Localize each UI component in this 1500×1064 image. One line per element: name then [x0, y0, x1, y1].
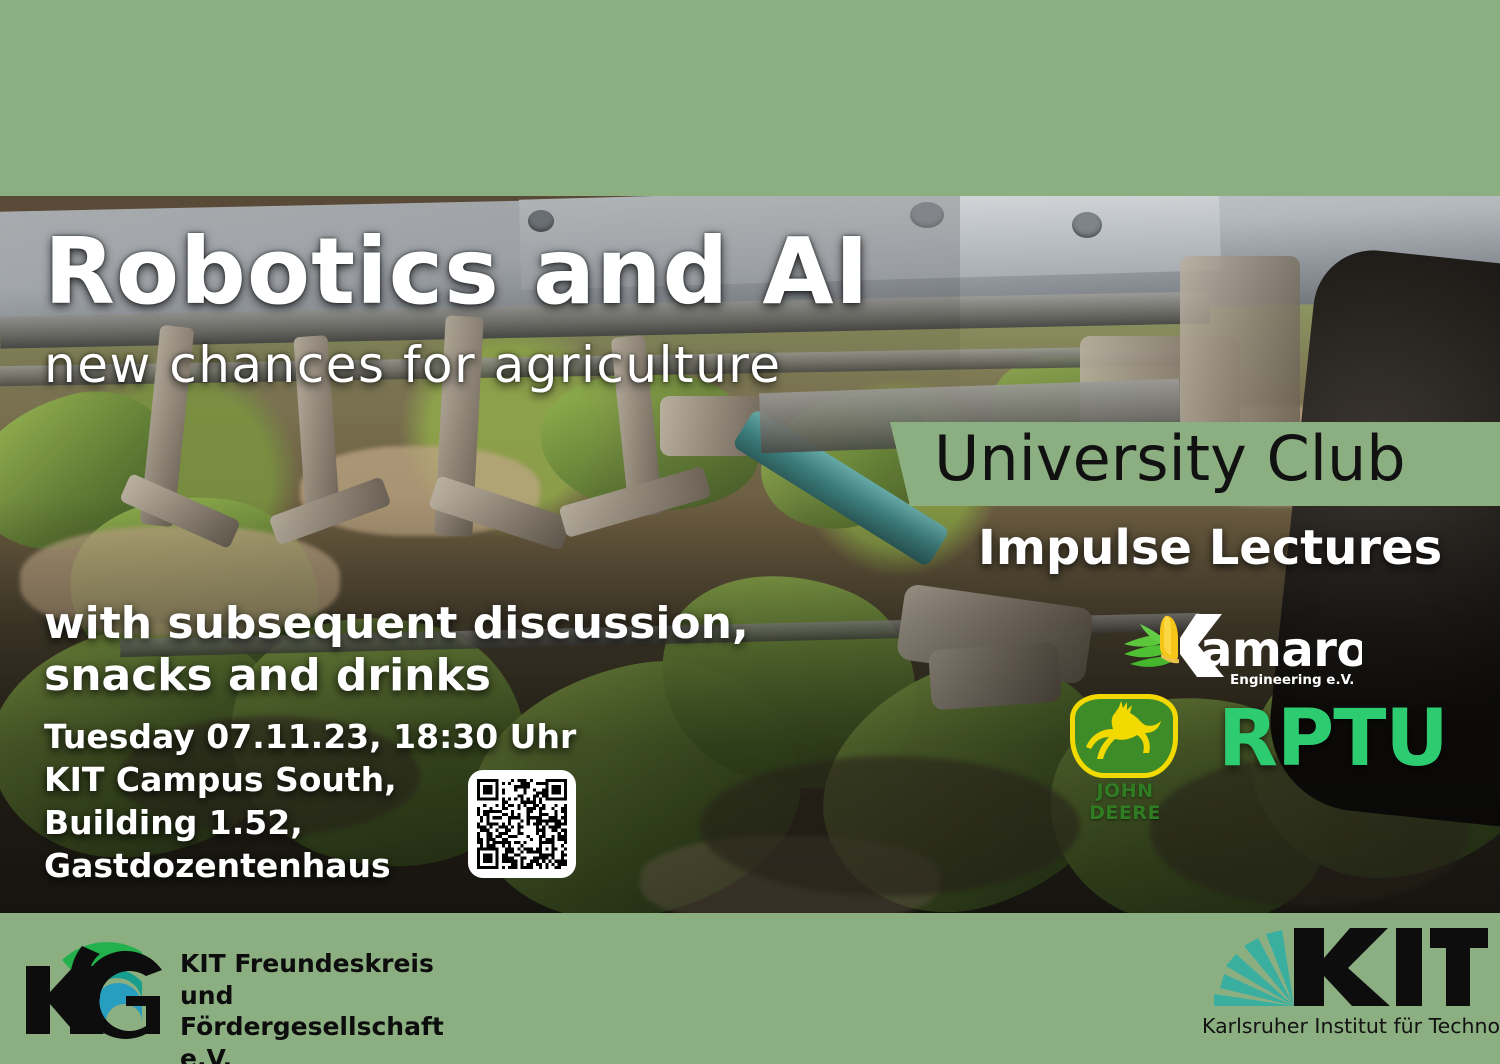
kamaro-sponsor-wordmark: amaro [1200, 622, 1362, 678]
top-green-band [0, 0, 1500, 196]
impulse-lectures-label: Impulse Lectures [978, 524, 1442, 572]
kfg-line-1: KIT Freundeskreis und [180, 948, 452, 1011]
detail-datetime: Tuesday 07.11.23, 18:30 Uhr [44, 716, 604, 759]
event-poster: amaro Engineering e.V. Robotics and AI n… [0, 0, 1500, 1064]
university-club-label: University Club [934, 428, 1406, 490]
john-deere-wordmark: JOHN DEERE [1060, 780, 1190, 824]
qr-code[interactable] [468, 770, 576, 878]
john-deere-shield [1070, 694, 1178, 778]
qr-code-canvas [477, 779, 567, 869]
john-deere-deer-icon [1075, 699, 1173, 773]
event-blurb: with subsequent discussion, snacks and d… [44, 598, 874, 702]
kamaro-sponsor-subtitle: Engineering e.V. [1230, 672, 1354, 688]
kit-logo: Karlsruher Institut für Technologie [1198, 922, 1488, 1046]
kamaro-logo-sponsor: amaro Engineering e.V. [1122, 610, 1362, 688]
rptu-logo: RPTU [1218, 700, 1448, 778]
kamaro-sponsor-icon: amaro Engineering e.V. [1122, 610, 1362, 688]
kfg-line-2: Fördergesellschaft e.V. [180, 1011, 452, 1064]
john-deere-logo: JOHN DEERE [1060, 694, 1190, 804]
poster-subtitle: new chances for agriculture [44, 340, 782, 390]
poster-title: Robotics and AI [44, 226, 870, 318]
kit-mark-icon [1198, 922, 1488, 1012]
kfg-mark-icon [22, 930, 172, 1040]
kit-subtitle: Karlsruher Institut für Technologie [1202, 1014, 1488, 1038]
blurb-line-1: with subsequent discussion, [44, 598, 874, 650]
kfg-logo: KIT Freundeskreis und Fördergesellschaft… [22, 930, 452, 1040]
kfg-wordmark: KIT Freundeskreis und Fördergesellschaft… [180, 948, 452, 1064]
blurb-line-2: snacks and drinks [44, 650, 874, 702]
